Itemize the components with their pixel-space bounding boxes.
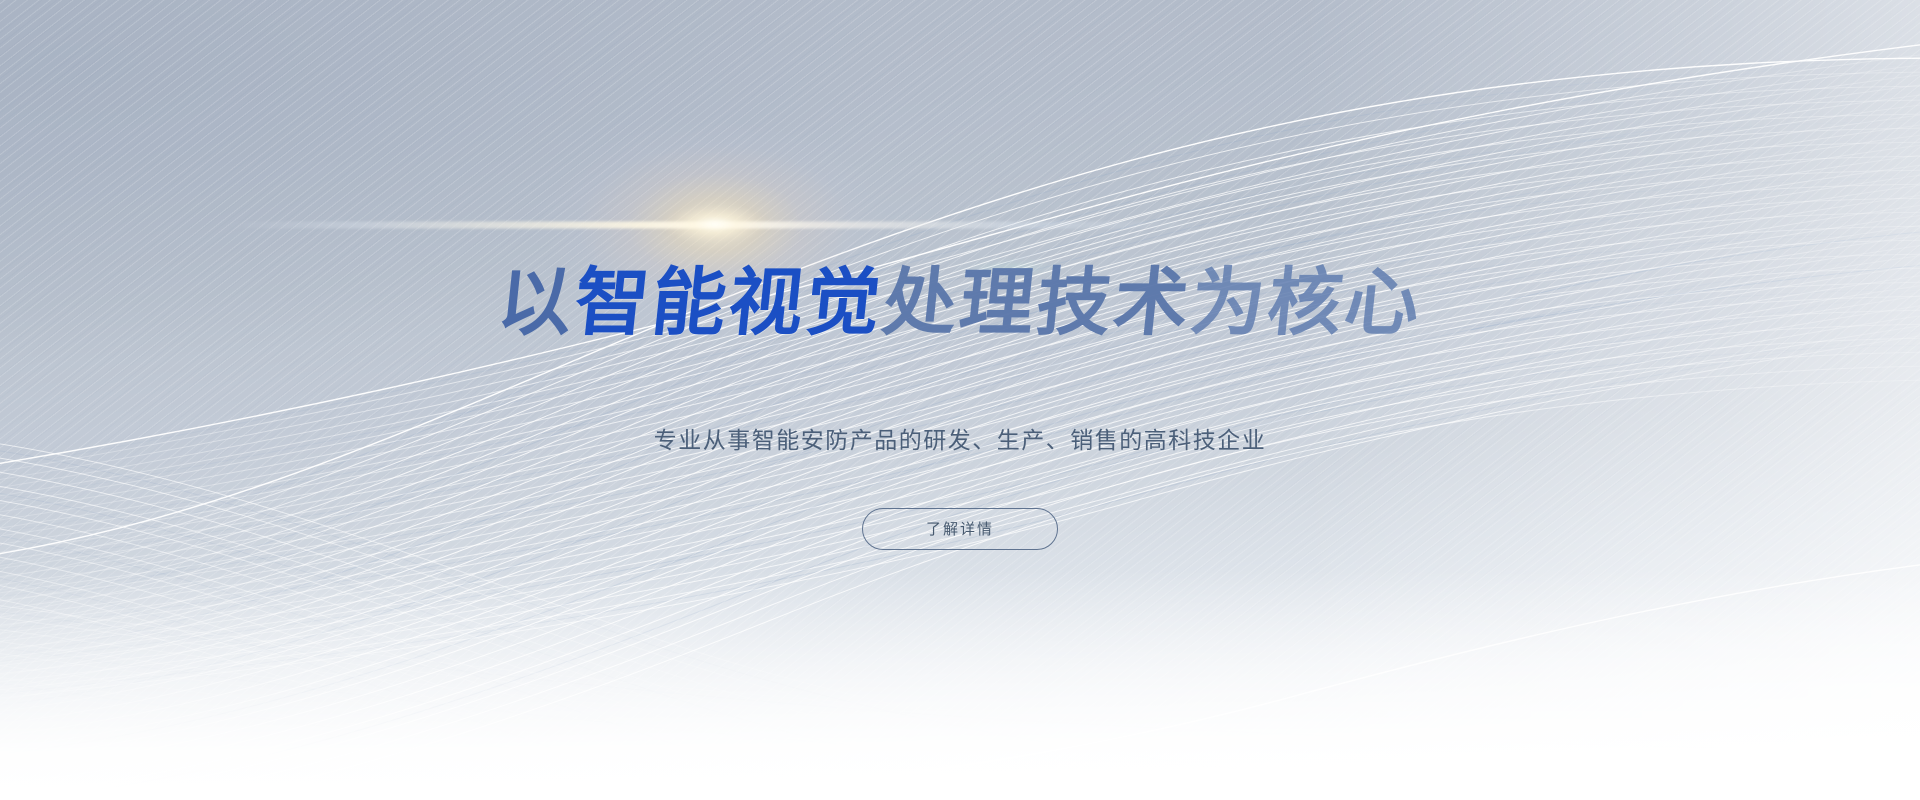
hero-banner: 以智能视觉处理技术为核心 专业从事智能安防产品的研发、生产、销售的高科技企业 了… <box>0 0 1920 800</box>
hero-subtitle: 专业从事智能安防产品的研发、生产、销售的高科技企业 <box>0 425 1920 457</box>
headline-segment-1: 以 <box>494 266 579 340</box>
headline-segment-4: 为核心 <box>1187 266 1426 340</box>
headline-segment-2: 智能视觉 <box>571 266 887 340</box>
learn-more-button[interactable]: 了解详情 <box>862 508 1058 550</box>
background-bottom-fade <box>0 570 1920 800</box>
hero-headline: 以智能视觉处理技术为核心 <box>0 266 1920 340</box>
headline-segment-3: 处理技术 <box>879 266 1195 340</box>
hero-cta-wrapper: 了解详情 <box>0 508 1920 550</box>
